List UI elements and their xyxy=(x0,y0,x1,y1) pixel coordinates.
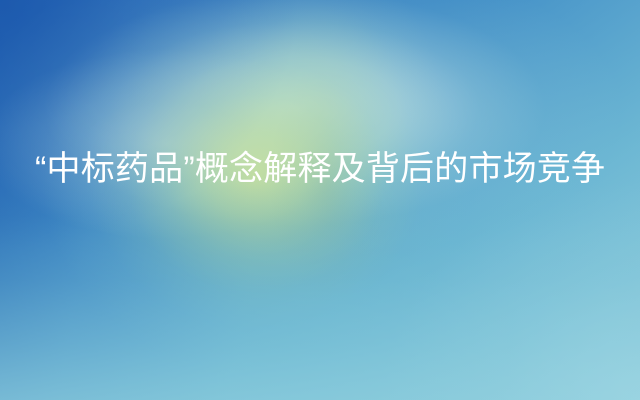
background-petal-shadows xyxy=(0,0,640,400)
background-green-glow xyxy=(0,0,640,400)
background-side-tint xyxy=(0,0,640,400)
background-cloud-puff xyxy=(0,0,640,400)
background-bottom-wash xyxy=(0,0,640,400)
background-sky-gradient xyxy=(0,0,640,400)
title-card: “中标药品”概念解释及背后的市场竞争 xyxy=(0,0,640,400)
background-green-plume xyxy=(0,0,640,400)
headline-title: “中标药品”概念解释及背后的市场竞争 xyxy=(35,140,620,198)
background-corner-vignette xyxy=(0,0,640,400)
background-cloud-band xyxy=(0,0,640,400)
